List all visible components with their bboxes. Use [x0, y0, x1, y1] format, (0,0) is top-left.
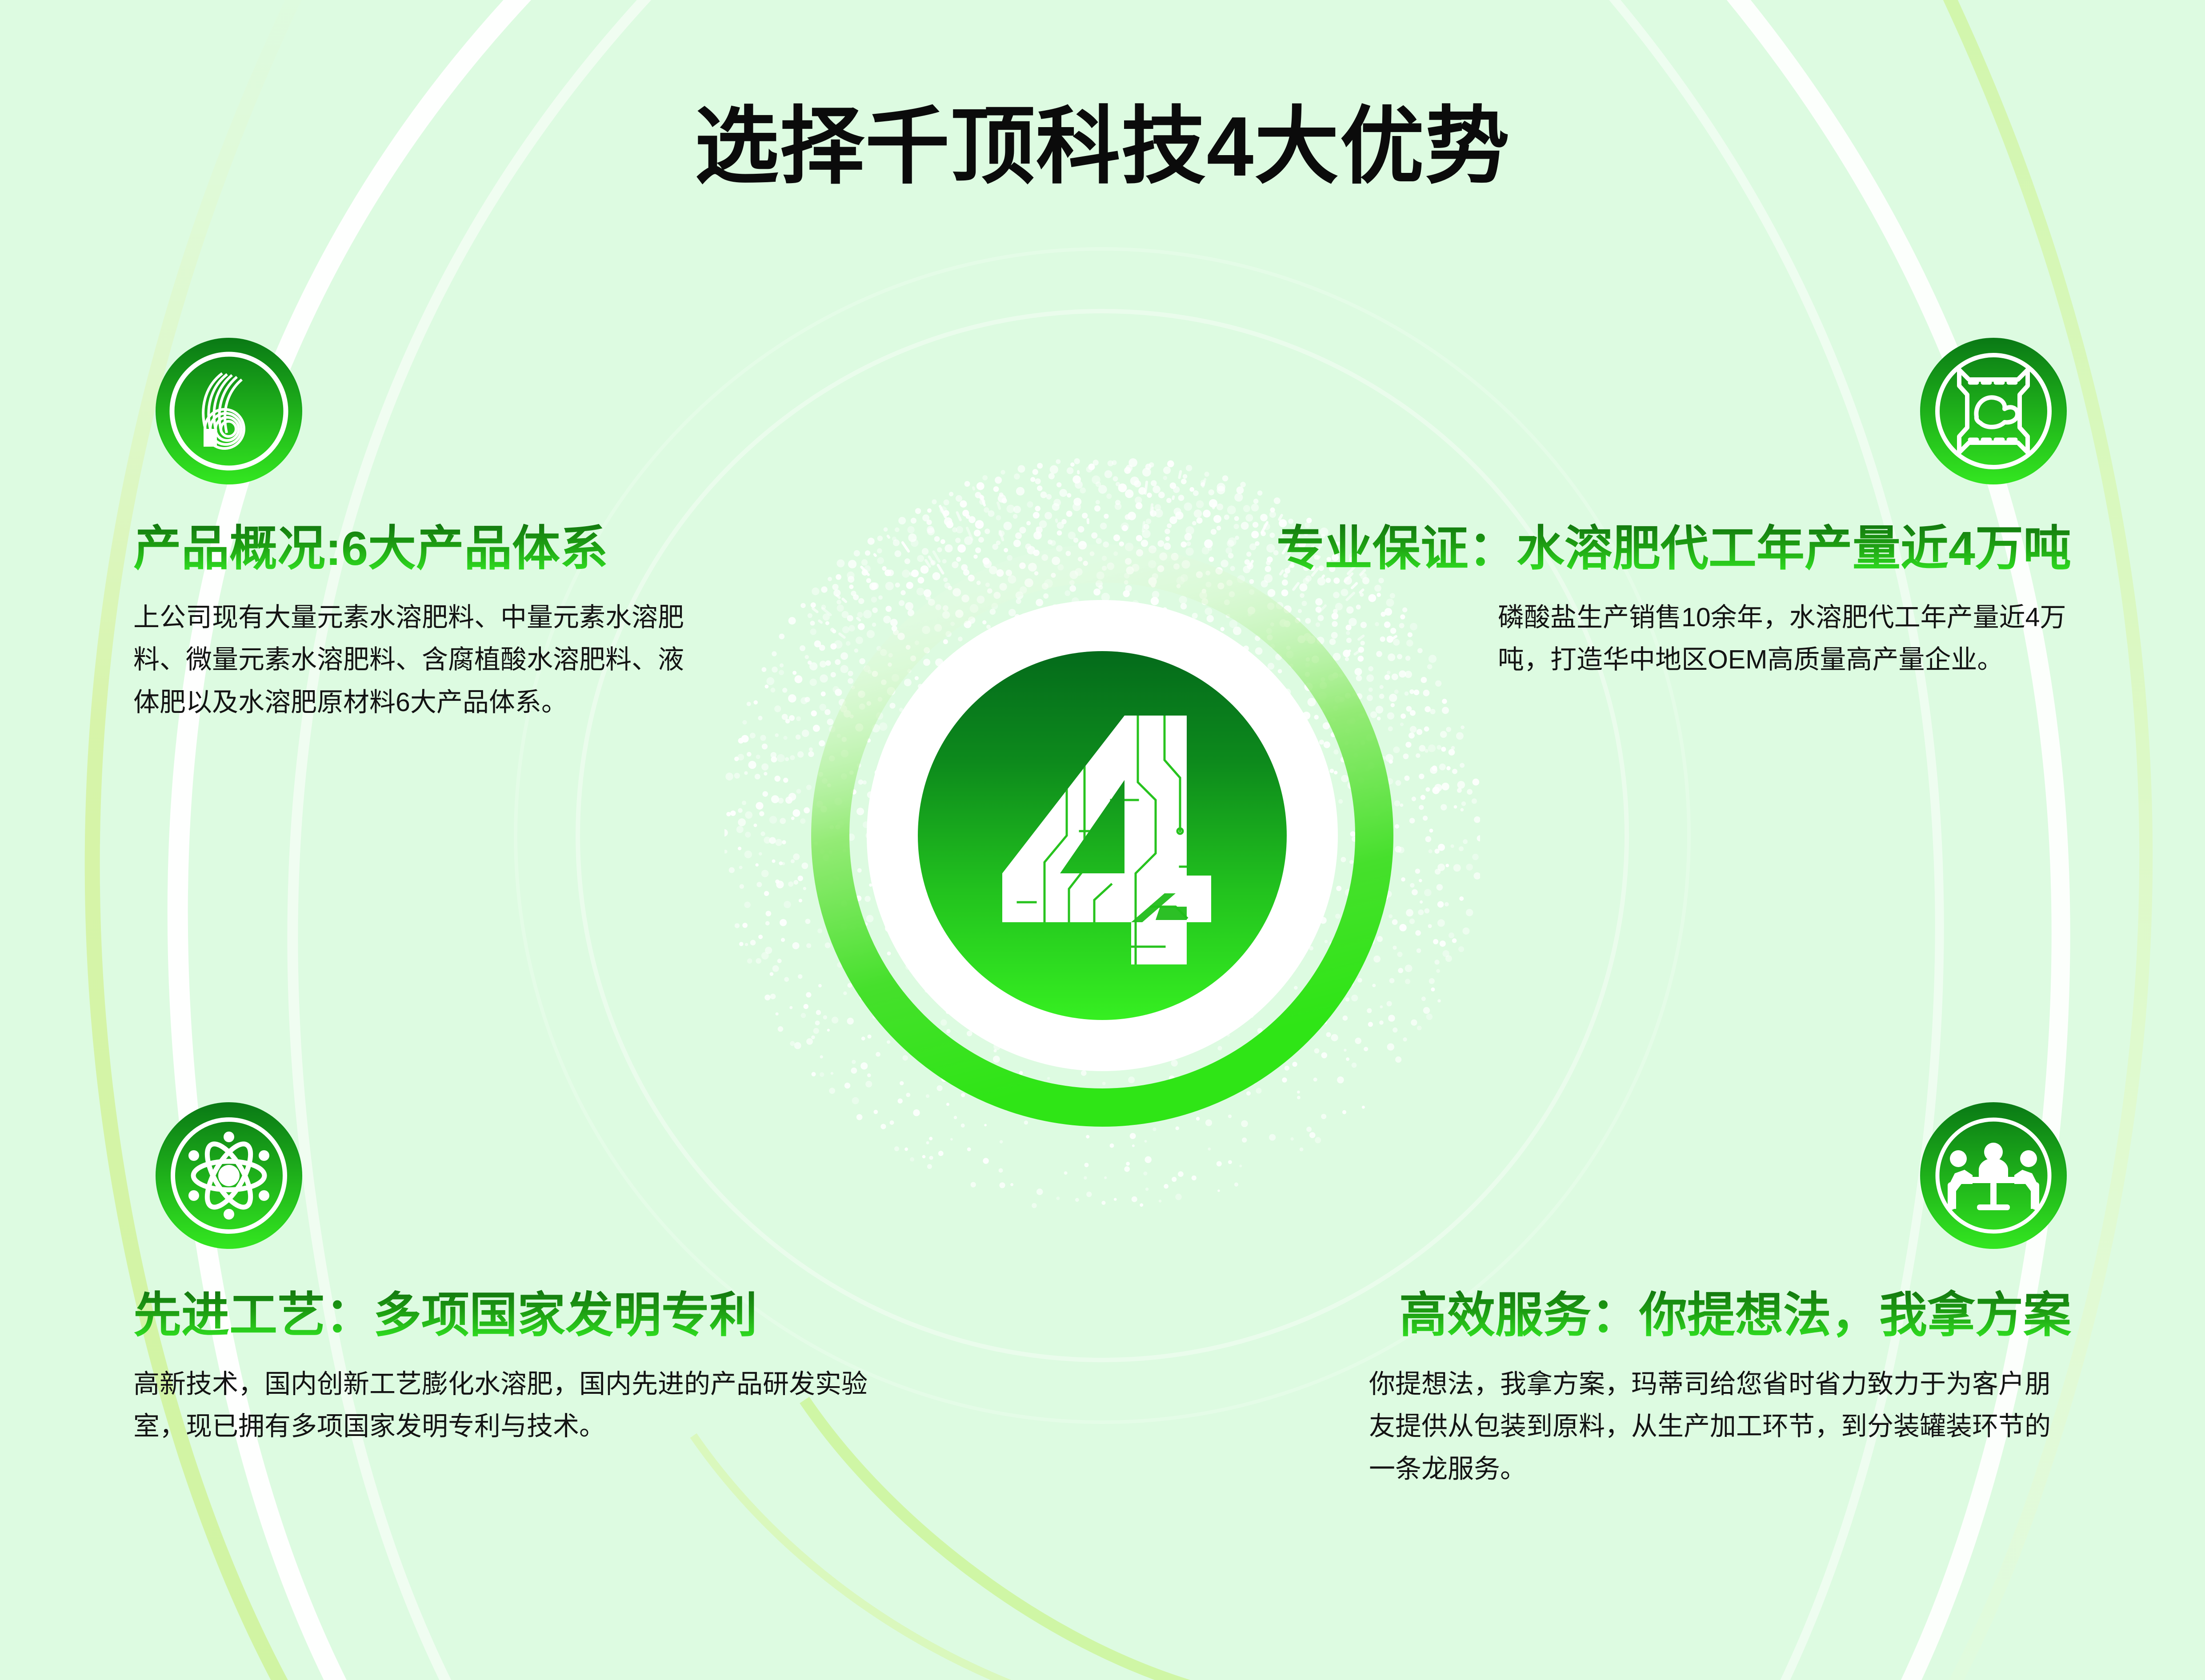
advantage-body: 你提想法，我拿方案，玛蒂司给您省时省力致力于为客户朋友提供从包装到原料，从生产加… — [1369, 1363, 2071, 1491]
atom-icon — [156, 1102, 302, 1249]
advantage-heading: 先进工艺：多项国家发明专利 — [133, 1289, 880, 1342]
advantage-block-bottom-left: 先进工艺：多项国家发明专利 高新技术，国内创新工艺膨化水溶肥，国内先进的产品研发… — [133, 1102, 880, 1448]
number-four-circuit-icon — [978, 698, 1227, 973]
advantage-block-top-right: 专业保证：水溶肥代工年产量近4万吨 磷酸盐生产销售10余年，水溶肥代工年产量近4… — [1187, 338, 2071, 681]
advantage-body: 磷酸盐生产销售10余年，水溶肥代工年产量近4万吨，打造华中地区OEM高质量高产量… — [1498, 596, 2071, 681]
number-six-circle-icon — [156, 338, 302, 484]
fertilizer-bag-icon — [1920, 338, 2067, 484]
advantage-block-bottom-right: 高效服务：你提想法，我拿方案 你提想法，我拿方案，玛蒂司给您省时省力致力于为客户… — [1325, 1102, 2071, 1491]
meeting-table-people-icon — [1920, 1102, 2067, 1249]
poster-stage: 选择千顶科技4大优势 — [0, 0, 2205, 1680]
advantage-heading: 产品概况:6大产品体系 — [133, 522, 707, 575]
advantage-body: 高新技术，国内创新工艺膨化水溶肥，国内先进的产品研发实验室，现已拥有多项国家发明… — [133, 1363, 880, 1448]
advantage-body: 上公司现有大量元素水溶肥料、中量元素水溶肥料、微量元素水溶肥料、含腐植酸水溶肥料… — [133, 596, 707, 724]
advantage-block-top-left: 产品概况:6大产品体系 上公司现有大量元素水溶肥料、中量元素水溶肥料、微量元素水… — [133, 338, 707, 724]
center-number-circle — [918, 651, 1287, 1020]
page-title: 选择千顶科技4大优势 — [0, 104, 2205, 189]
advantage-heading: 高效服务：你提想法，我拿方案 — [1325, 1289, 2071, 1342]
advantage-heading: 专业保证：水溶肥代工年产量近4万吨 — [1187, 522, 2071, 575]
